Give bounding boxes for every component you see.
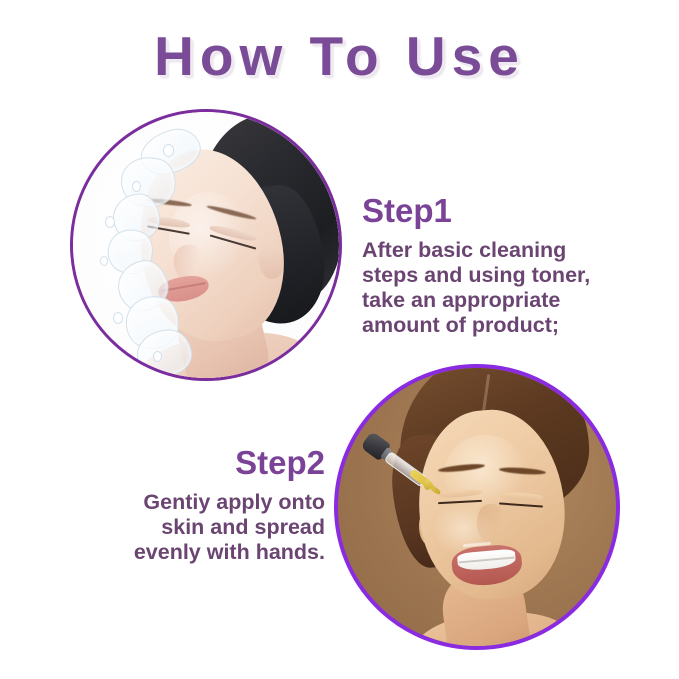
step1-heading: Step1 bbox=[362, 194, 452, 227]
water-splash-face-photo bbox=[73, 112, 339, 378]
step2-body-text: Gentiy apply onto skin and spread evenly… bbox=[134, 490, 325, 565]
step2-heading: Step2 bbox=[235, 446, 325, 479]
how-to-use-infographic: How To Use bbox=[0, 0, 679, 679]
water-droplet-3 bbox=[105, 216, 115, 228]
water-droplet-2 bbox=[132, 181, 141, 192]
step1-body-text: After basic cleaning steps and using ton… bbox=[362, 238, 590, 338]
water-droplet-4 bbox=[100, 256, 108, 266]
water-droplet-5 bbox=[113, 312, 123, 324]
serum-dropper-face-photo bbox=[338, 368, 616, 646]
page-title: How To Use bbox=[0, 28, 679, 86]
nose-shape bbox=[477, 504, 505, 543]
step2-photo-circle bbox=[334, 364, 620, 650]
step1-photo-circle bbox=[70, 109, 342, 381]
serum-droplet bbox=[424, 479, 431, 490]
